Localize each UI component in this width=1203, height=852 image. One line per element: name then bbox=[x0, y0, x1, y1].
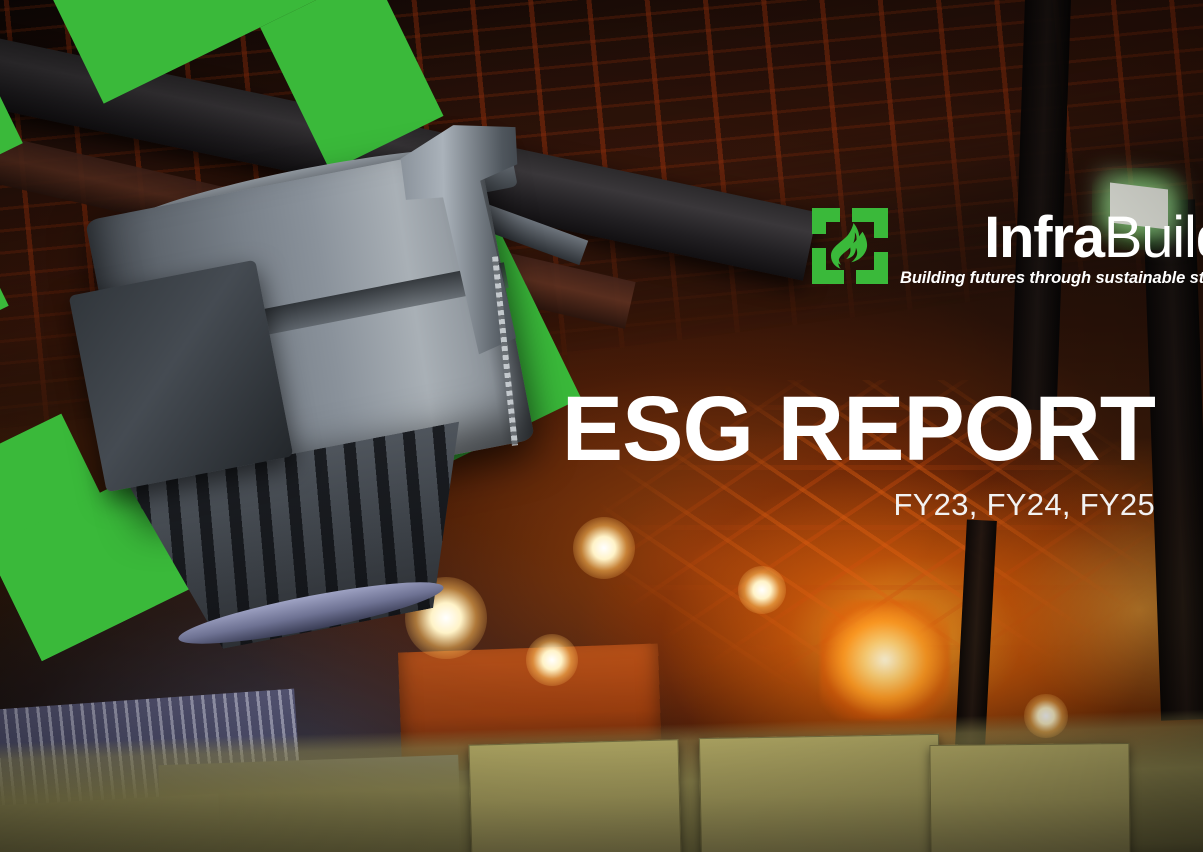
mark-bracket-right-lower bbox=[874, 252, 888, 284]
flame-icon bbox=[829, 223, 873, 269]
mark-bracket-right-upper bbox=[874, 208, 888, 238]
steel-ladle-vessel bbox=[0, 0, 640, 680]
logo-word-build: Build bbox=[1104, 205, 1203, 270]
olive-machine-unit-a bbox=[468, 739, 681, 852]
mark-bracket-left-upper bbox=[812, 208, 826, 234]
logo-word-infra: Infra bbox=[984, 205, 1104, 270]
lamp-far-right bbox=[1024, 694, 1067, 737]
page-subtitle: FY23, FY24, FY25 bbox=[562, 487, 1155, 523]
logo-wordmark: InfraBuild bbox=[984, 210, 1203, 265]
olive-machine-unit-c bbox=[929, 743, 1130, 852]
page-title: ESG REPORT bbox=[562, 386, 1155, 473]
mark-bracket-left-lower bbox=[812, 248, 826, 284]
ladle-trunnion-block bbox=[69, 260, 294, 493]
furnace-glow bbox=[820, 600, 950, 720]
infrabuild-logo[interactable]: InfraBuild Building futures through sust… bbox=[812, 208, 1203, 288]
report-cover-page: InfraBuild Building futures through sust… bbox=[0, 0, 1203, 852]
logo-tagline: Building futures through sustainable ste… bbox=[900, 269, 1203, 288]
logo-wordmark-block: InfraBuild Building futures through sust… bbox=[900, 208, 1203, 288]
flame-in-bracket-square-icon bbox=[812, 208, 888, 284]
cover-title-block: ESG REPORT FY23, FY24, FY25 bbox=[562, 386, 1155, 523]
lamp-right-high bbox=[738, 566, 786, 614]
olive-machine-unit-b bbox=[699, 734, 941, 852]
